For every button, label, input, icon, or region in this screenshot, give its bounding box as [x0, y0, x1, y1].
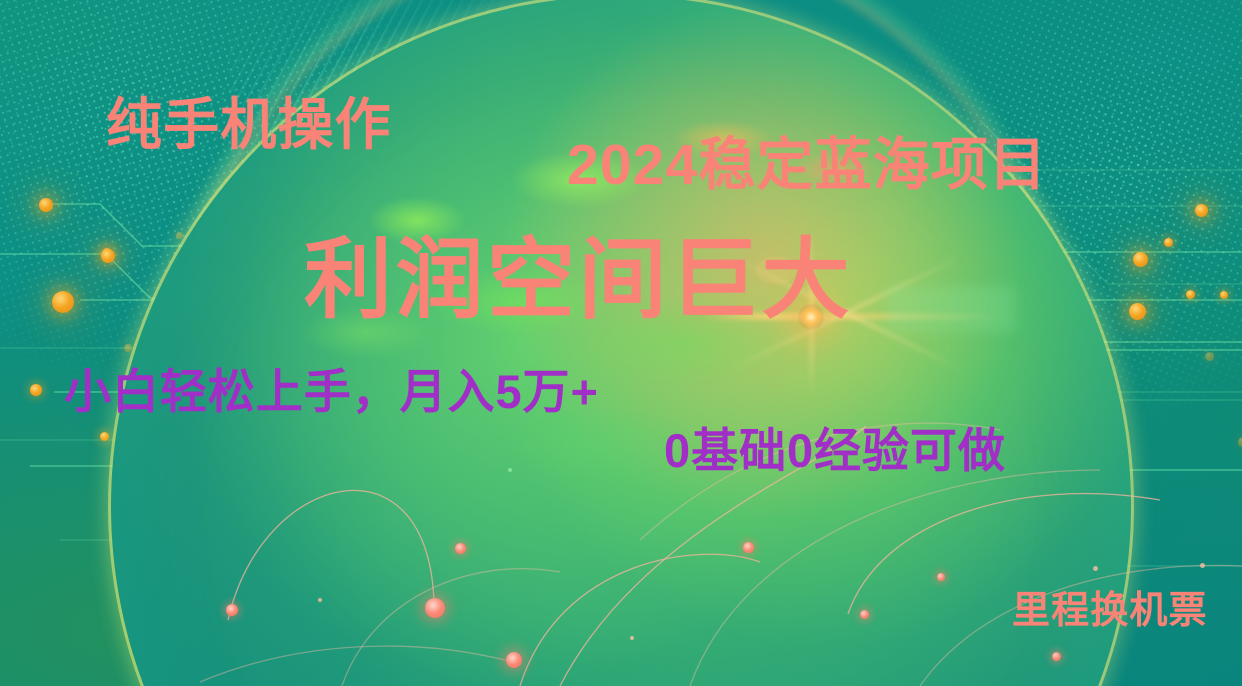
globe-node — [455, 543, 466, 554]
globe-node — [860, 610, 869, 619]
globe-node — [1052, 652, 1061, 661]
globe-node — [226, 604, 238, 616]
globe-node — [937, 573, 945, 581]
headline-profit: 利润空间巨大 — [304, 236, 853, 324]
sparkle-dot — [630, 636, 634, 640]
sparkle-dot — [318, 598, 322, 602]
globe-node — [743, 542, 754, 553]
globe-node — [506, 652, 522, 668]
globe-node — [425, 598, 445, 618]
headline-easy-income: 小白轻松上手，月入5万+ — [64, 368, 599, 415]
sparkle-dot — [1200, 563, 1205, 568]
sparkle-dot — [508, 468, 512, 472]
promo-banner: 纯手机操作 2024稳定蓝海项目 利润空间巨大 小白轻松上手，月入5万+ 0基础… — [0, 0, 1242, 686]
headline-miles-for-tickets: 里程换机票 — [1012, 592, 1208, 630]
headline-phone-only: 纯手机操作 — [106, 97, 392, 153]
headline-year-project: 2024稳定蓝海项目 — [567, 137, 1047, 194]
sparkle-dot — [1093, 566, 1098, 571]
headline-zero-base: 0基础0经验可做 — [664, 427, 1006, 474]
